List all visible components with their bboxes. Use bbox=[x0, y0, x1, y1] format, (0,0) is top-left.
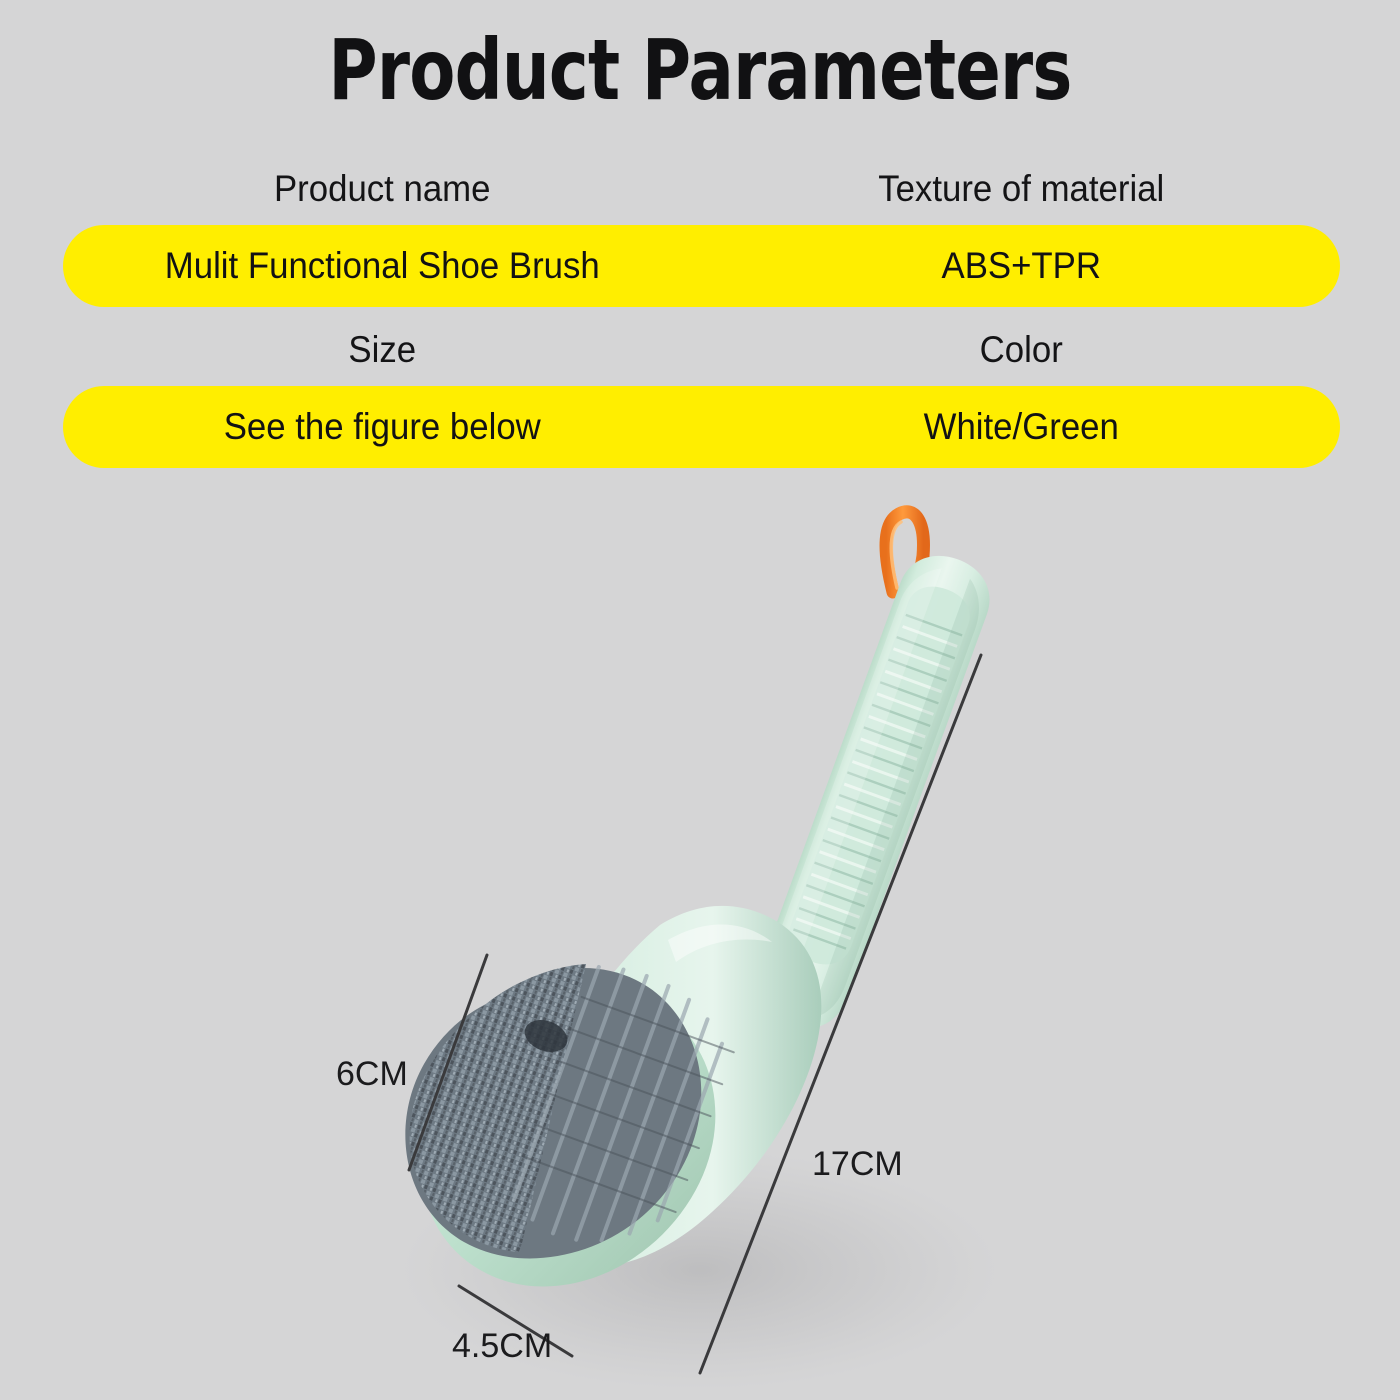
spec-value-color: White/Green bbox=[721, 406, 1321, 448]
spec-value-size: See the figure below bbox=[82, 406, 682, 448]
spec-label-color: Color bbox=[721, 329, 1321, 375]
dimension-label-45cm: 4.5CM bbox=[452, 1327, 552, 1366]
dimension-label-6cm: 6CM bbox=[336, 1055, 408, 1094]
spec-value-row: Mulit Functional Shoe Brush ABS+TPR bbox=[63, 225, 1340, 307]
spec-label-product-name: Product name bbox=[82, 168, 682, 214]
spec-value-product-name: Mulit Functional Shoe Brush bbox=[82, 245, 682, 287]
spec-label-row: Size Color bbox=[63, 329, 1340, 375]
product-photo bbox=[0, 470, 1400, 1400]
spec-label-size: Size bbox=[82, 329, 682, 375]
spec-value-texture-of-material: ABS+TPR bbox=[721, 245, 1321, 287]
spec-label-row: Product name Texture of material bbox=[63, 168, 1340, 214]
spec-value-row: See the figure below White/Green bbox=[63, 386, 1340, 468]
spec-label-texture-of-material: Texture of material bbox=[721, 168, 1321, 214]
dimension-label-17cm: 17CM bbox=[812, 1145, 903, 1184]
page-title: Product Parameters bbox=[140, 26, 1260, 114]
